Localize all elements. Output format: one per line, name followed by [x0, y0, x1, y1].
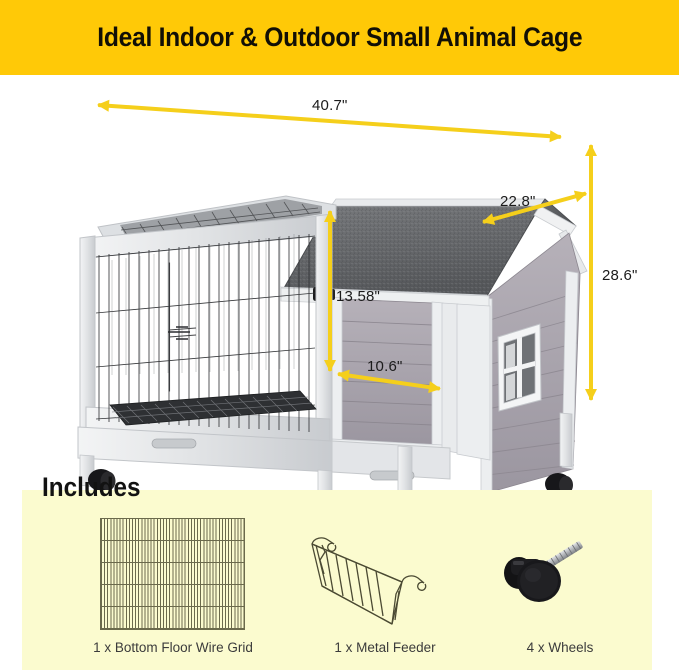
includes-item-caption-feeder: 1 x Metal Feeder — [305, 640, 465, 655]
hutch-roof — [0, 75, 679, 490]
title-banner: Ideal Indoor & Outdoor Small Animal Cage — [0, 0, 679, 75]
includes-item-caption-wheels: 4 x Wheels — [495, 640, 625, 655]
wheels-icon — [495, 525, 625, 635]
page-title: Ideal Indoor & Outdoor Small Animal Cage — [97, 22, 582, 53]
includes-heading: Includes — [42, 472, 141, 503]
dimension-label-door-height: 13.58" — [336, 288, 380, 305]
product-infographic: Ideal Indoor & Outdoor Small Animal Cage — [0, 0, 679, 670]
dimension-label-depth: 22.8" — [500, 193, 536, 210]
dimension-label-width: 40.7" — [312, 97, 348, 114]
metal-feeder-icon — [300, 528, 460, 638]
bottom-floor-wire-grid-icon — [100, 518, 245, 630]
dimension-label-door-width: 10.6" — [367, 358, 403, 375]
includes-item-caption-grid: 1 x Bottom Floor Wire Grid — [83, 640, 263, 655]
product-diagram: 40.7" 22.8" 28.6" 13.58" 10.6" — [0, 75, 679, 490]
dimension-label-height: 28.6" — [602, 267, 638, 284]
